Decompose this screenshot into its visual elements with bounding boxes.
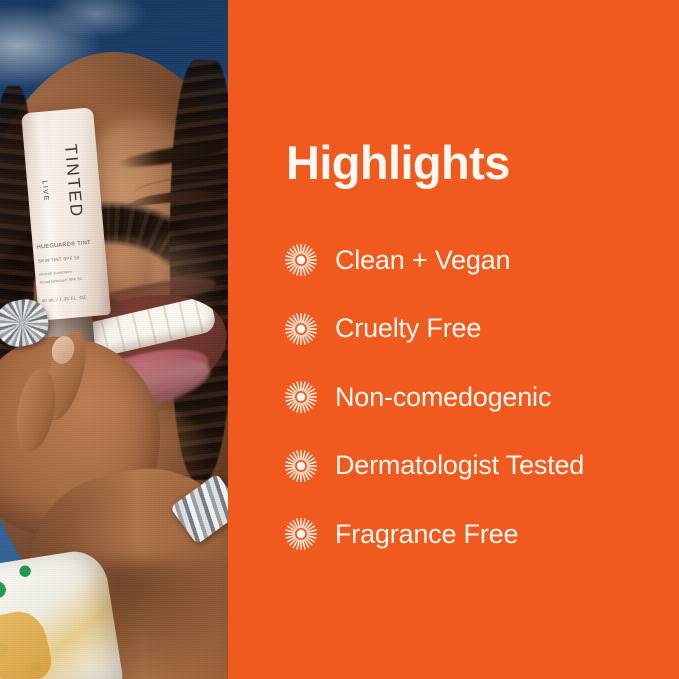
tube-product-sub: SKIN TINT SPF 50 bbox=[38, 255, 80, 264]
tube-product-name: HUEGUARD® TINT bbox=[37, 240, 92, 251]
product-highlights-graphic: TINTED LIVE HUEGUARD® TINT SKIN TINT SPF… bbox=[0, 0, 679, 679]
list-item: Dermatologist Tested bbox=[285, 432, 675, 501]
tube-volume: 40 mL / 1.35 FL. OZ. bbox=[41, 294, 88, 303]
sunburst-icon bbox=[285, 313, 317, 345]
list-item: Clean + Vegan bbox=[285, 226, 675, 295]
sunburst-icon bbox=[285, 244, 317, 276]
sunburst-icon bbox=[285, 381, 317, 413]
model-holding-tube-photo: TINTED LIVE HUEGUARD® TINT SKIN TINT SPF… bbox=[0, 0, 228, 679]
sunburst-icon bbox=[285, 313, 317, 345]
list-item: Non-comedogenic bbox=[285, 363, 675, 432]
list-item: Fragrance Free bbox=[285, 500, 675, 569]
sunburst-icon bbox=[285, 518, 317, 550]
list-item: Cruelty Free bbox=[285, 295, 675, 364]
tube-claim-2: broad spectrum SPF 50 bbox=[40, 277, 82, 285]
page-title: Highlights bbox=[286, 139, 510, 186]
list-item-label: Dermatologist Tested bbox=[335, 452, 584, 479]
tube-brand-prefix: LIVE bbox=[41, 180, 50, 202]
sunburst-icon bbox=[285, 381, 317, 413]
highlights-list: Clean + Vegan Cruelty Free Non-comedogen… bbox=[285, 226, 675, 569]
sunburst-icon bbox=[285, 450, 317, 482]
list-item-label: Cruelty Free bbox=[335, 315, 481, 342]
list-item-label: Non-comedogenic bbox=[335, 384, 551, 411]
sunburst-icon bbox=[285, 244, 317, 276]
list-item-label: Clean + Vegan bbox=[335, 247, 510, 274]
tube-claim-1: mineral sunscreen bbox=[39, 270, 72, 277]
tube-brand-name: TINTED bbox=[60, 143, 86, 219]
sunburst-icon bbox=[285, 450, 317, 482]
sunburst-icon bbox=[285, 518, 317, 550]
highlights-panel: Highlights Clean + Vegan Cruelty Free No… bbox=[228, 0, 679, 679]
list-item-label: Fragrance Free bbox=[335, 521, 518, 548]
